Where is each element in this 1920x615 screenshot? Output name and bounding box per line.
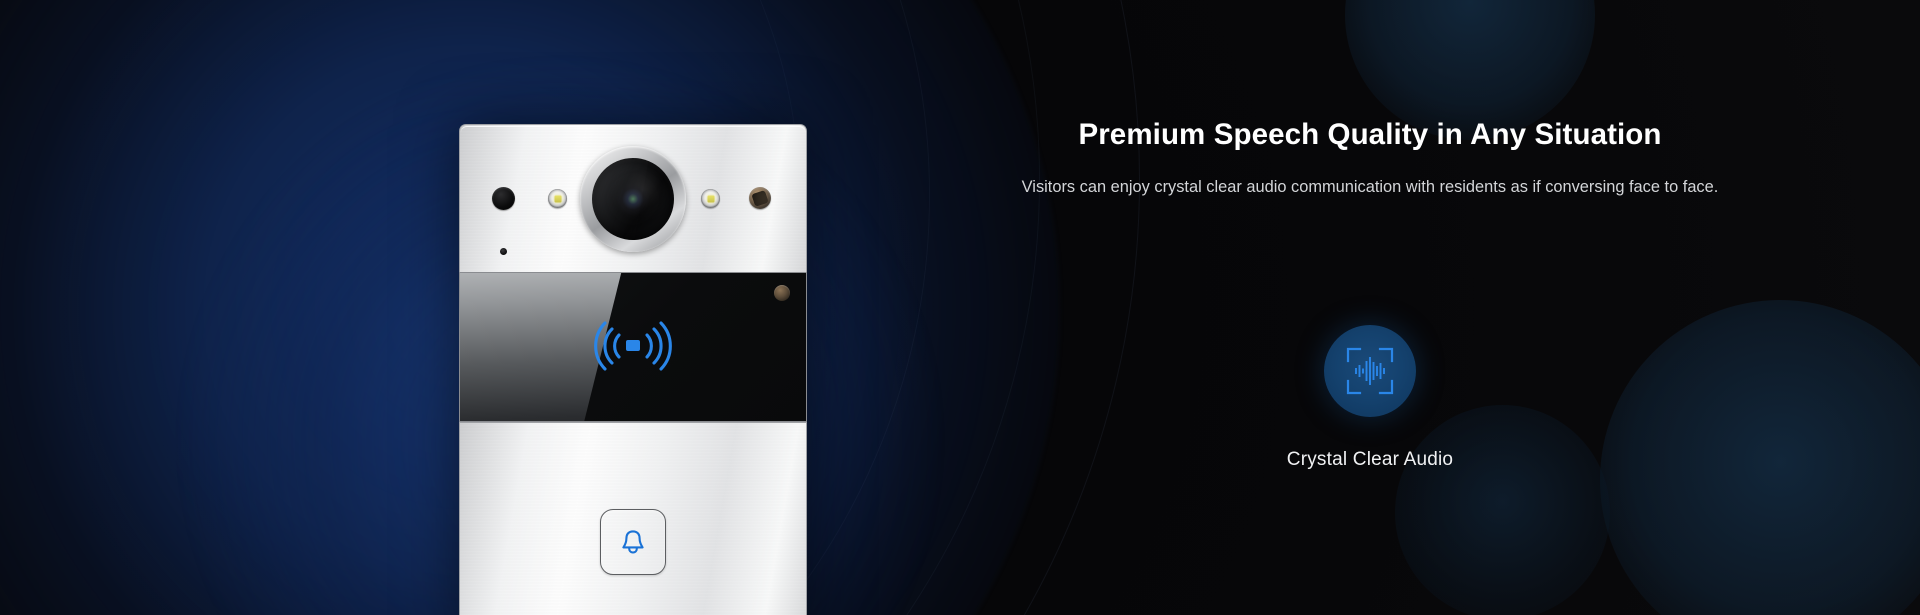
led-light-right-icon bbox=[701, 189, 720, 208]
audio-waveform-icon bbox=[1344, 345, 1396, 397]
device-button-panel bbox=[459, 422, 807, 615]
device-rfid-panel bbox=[459, 272, 807, 422]
doorbell-bell-icon bbox=[617, 526, 649, 558]
feature-icon-circle bbox=[1324, 325, 1416, 417]
camera-lens-glass bbox=[592, 158, 674, 240]
camera-lens bbox=[580, 146, 686, 252]
banner-content: Premium Speech Quality in Any Situation … bbox=[820, 0, 1920, 615]
product-feature-banner: Premium Speech Quality in Any Situation … bbox=[0, 0, 1920, 615]
feature-highlight: Crystal Clear Audio bbox=[820, 325, 1920, 471]
ir-sensor-icon bbox=[492, 187, 515, 210]
device-camera-panel bbox=[459, 124, 807, 272]
doorbell-device-image bbox=[459, 124, 807, 615]
banner-headline: Premium Speech Quality in Any Situation bbox=[820, 117, 1920, 152]
microphone-hole-icon bbox=[500, 248, 507, 255]
light-sensor-icon bbox=[749, 187, 771, 209]
rfid-card-reader-icon bbox=[585, 316, 681, 378]
feature-label: Crystal Clear Audio bbox=[1287, 449, 1453, 471]
led-light-left-icon bbox=[548, 189, 567, 208]
panel-screw-icon bbox=[774, 285, 790, 301]
doorbell-call-button[interactable] bbox=[600, 509, 666, 575]
banner-subtext: Visitors can enjoy crystal clear audio c… bbox=[820, 176, 1920, 199]
